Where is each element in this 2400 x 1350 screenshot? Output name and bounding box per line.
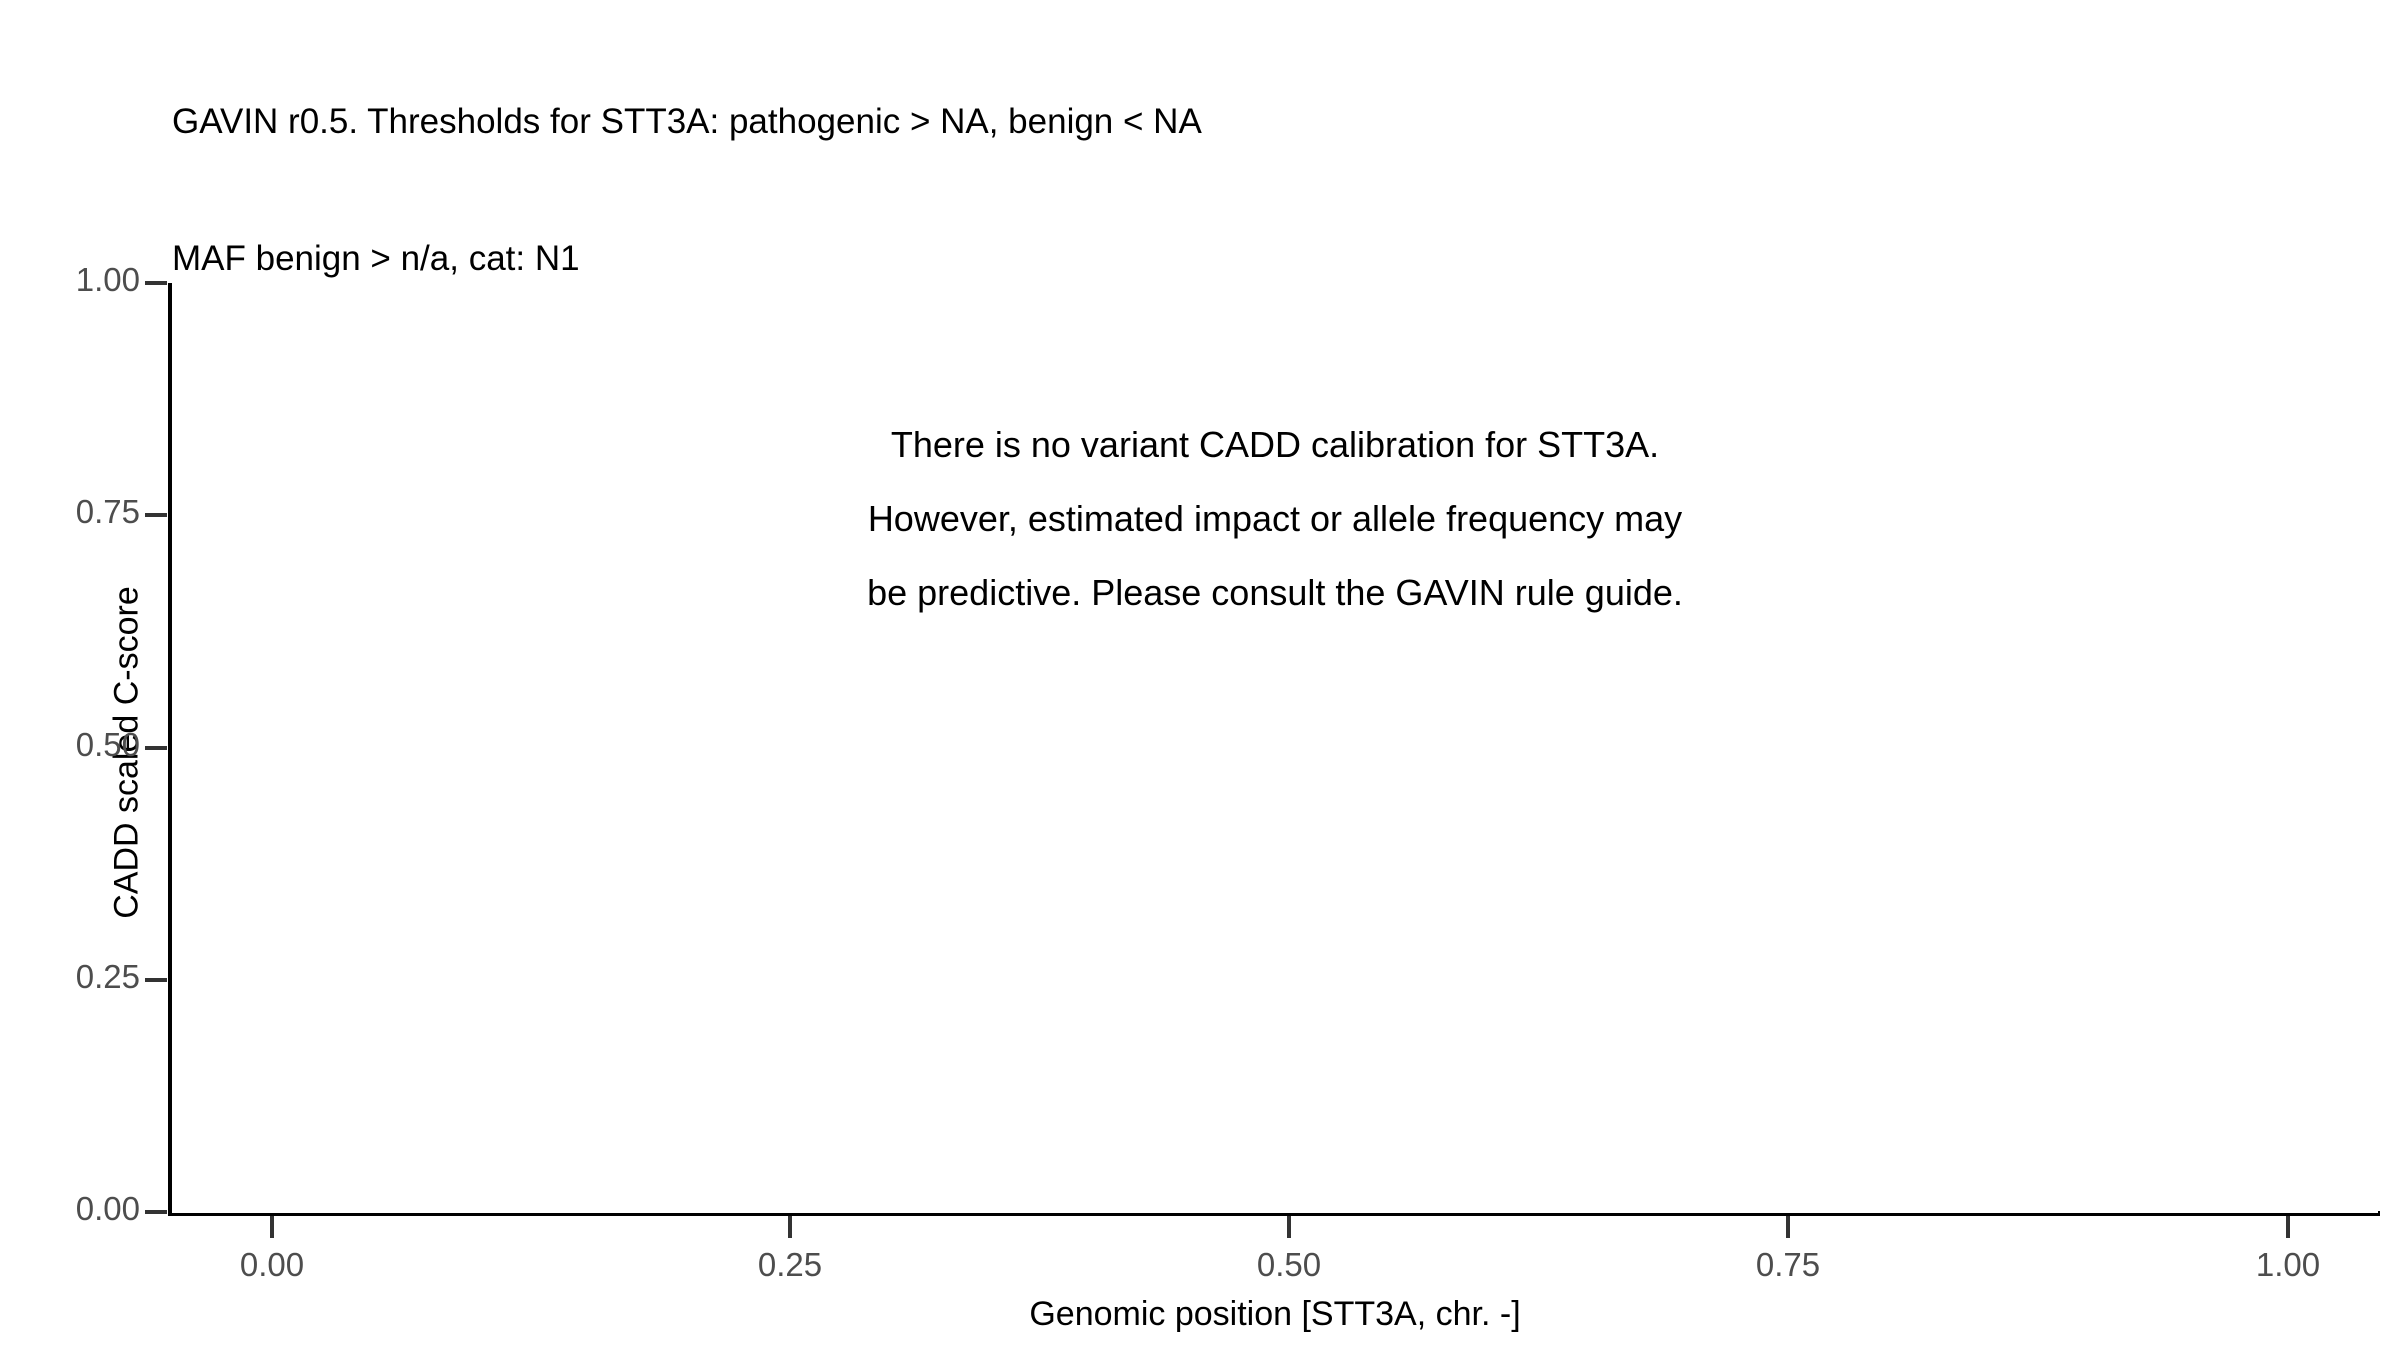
- y-tick-mark: [145, 281, 167, 285]
- x-tick-label: 0.25: [700, 1246, 880, 1284]
- y-tick-label: 1.00: [76, 261, 140, 299]
- y-tick-label: 0.50: [76, 726, 140, 764]
- title-line-2: MAF benign > n/a, cat: N1: [172, 236, 2272, 282]
- y-tick-mark: [145, 746, 167, 750]
- x-tick-label: 0.75: [1698, 1246, 1878, 1284]
- x-tick-mark: [1287, 1216, 1291, 1238]
- y-tick-mark: [145, 978, 167, 982]
- message-line-3: be predictive. Please consult the GAVIN …: [172, 572, 2378, 614]
- x-tick-mark: [1786, 1216, 1790, 1238]
- message-line-1: There is no variant CADD calibration for…: [172, 424, 2378, 466]
- y-tick-label: 0.25: [76, 958, 140, 996]
- y-tick-label: 0.75: [76, 493, 140, 531]
- plot-panel: There is no variant CADD calibration for…: [172, 283, 2378, 1213]
- y-tick-mark: [145, 513, 167, 517]
- x-tick-mark: [270, 1216, 274, 1238]
- x-tick-mark: [2286, 1216, 2290, 1238]
- x-tick-label: 0.50: [1199, 1246, 1379, 1284]
- x-tick-label: 0.00: [182, 1246, 362, 1284]
- message-line-2: However, estimated impact or allele freq…: [172, 498, 2378, 540]
- title-line-1: GAVIN r0.5. Thresholds for STT3A: pathog…: [172, 99, 2272, 145]
- y-tick-label: 0.00: [76, 1190, 140, 1228]
- x-axis-title: Genomic position [STT3A, chr. -]: [172, 1295, 2378, 1334]
- x-tick-label: 1.00: [2198, 1246, 2378, 1284]
- x-tick-mark: [788, 1216, 792, 1238]
- y-tick-mark: [145, 1210, 167, 1214]
